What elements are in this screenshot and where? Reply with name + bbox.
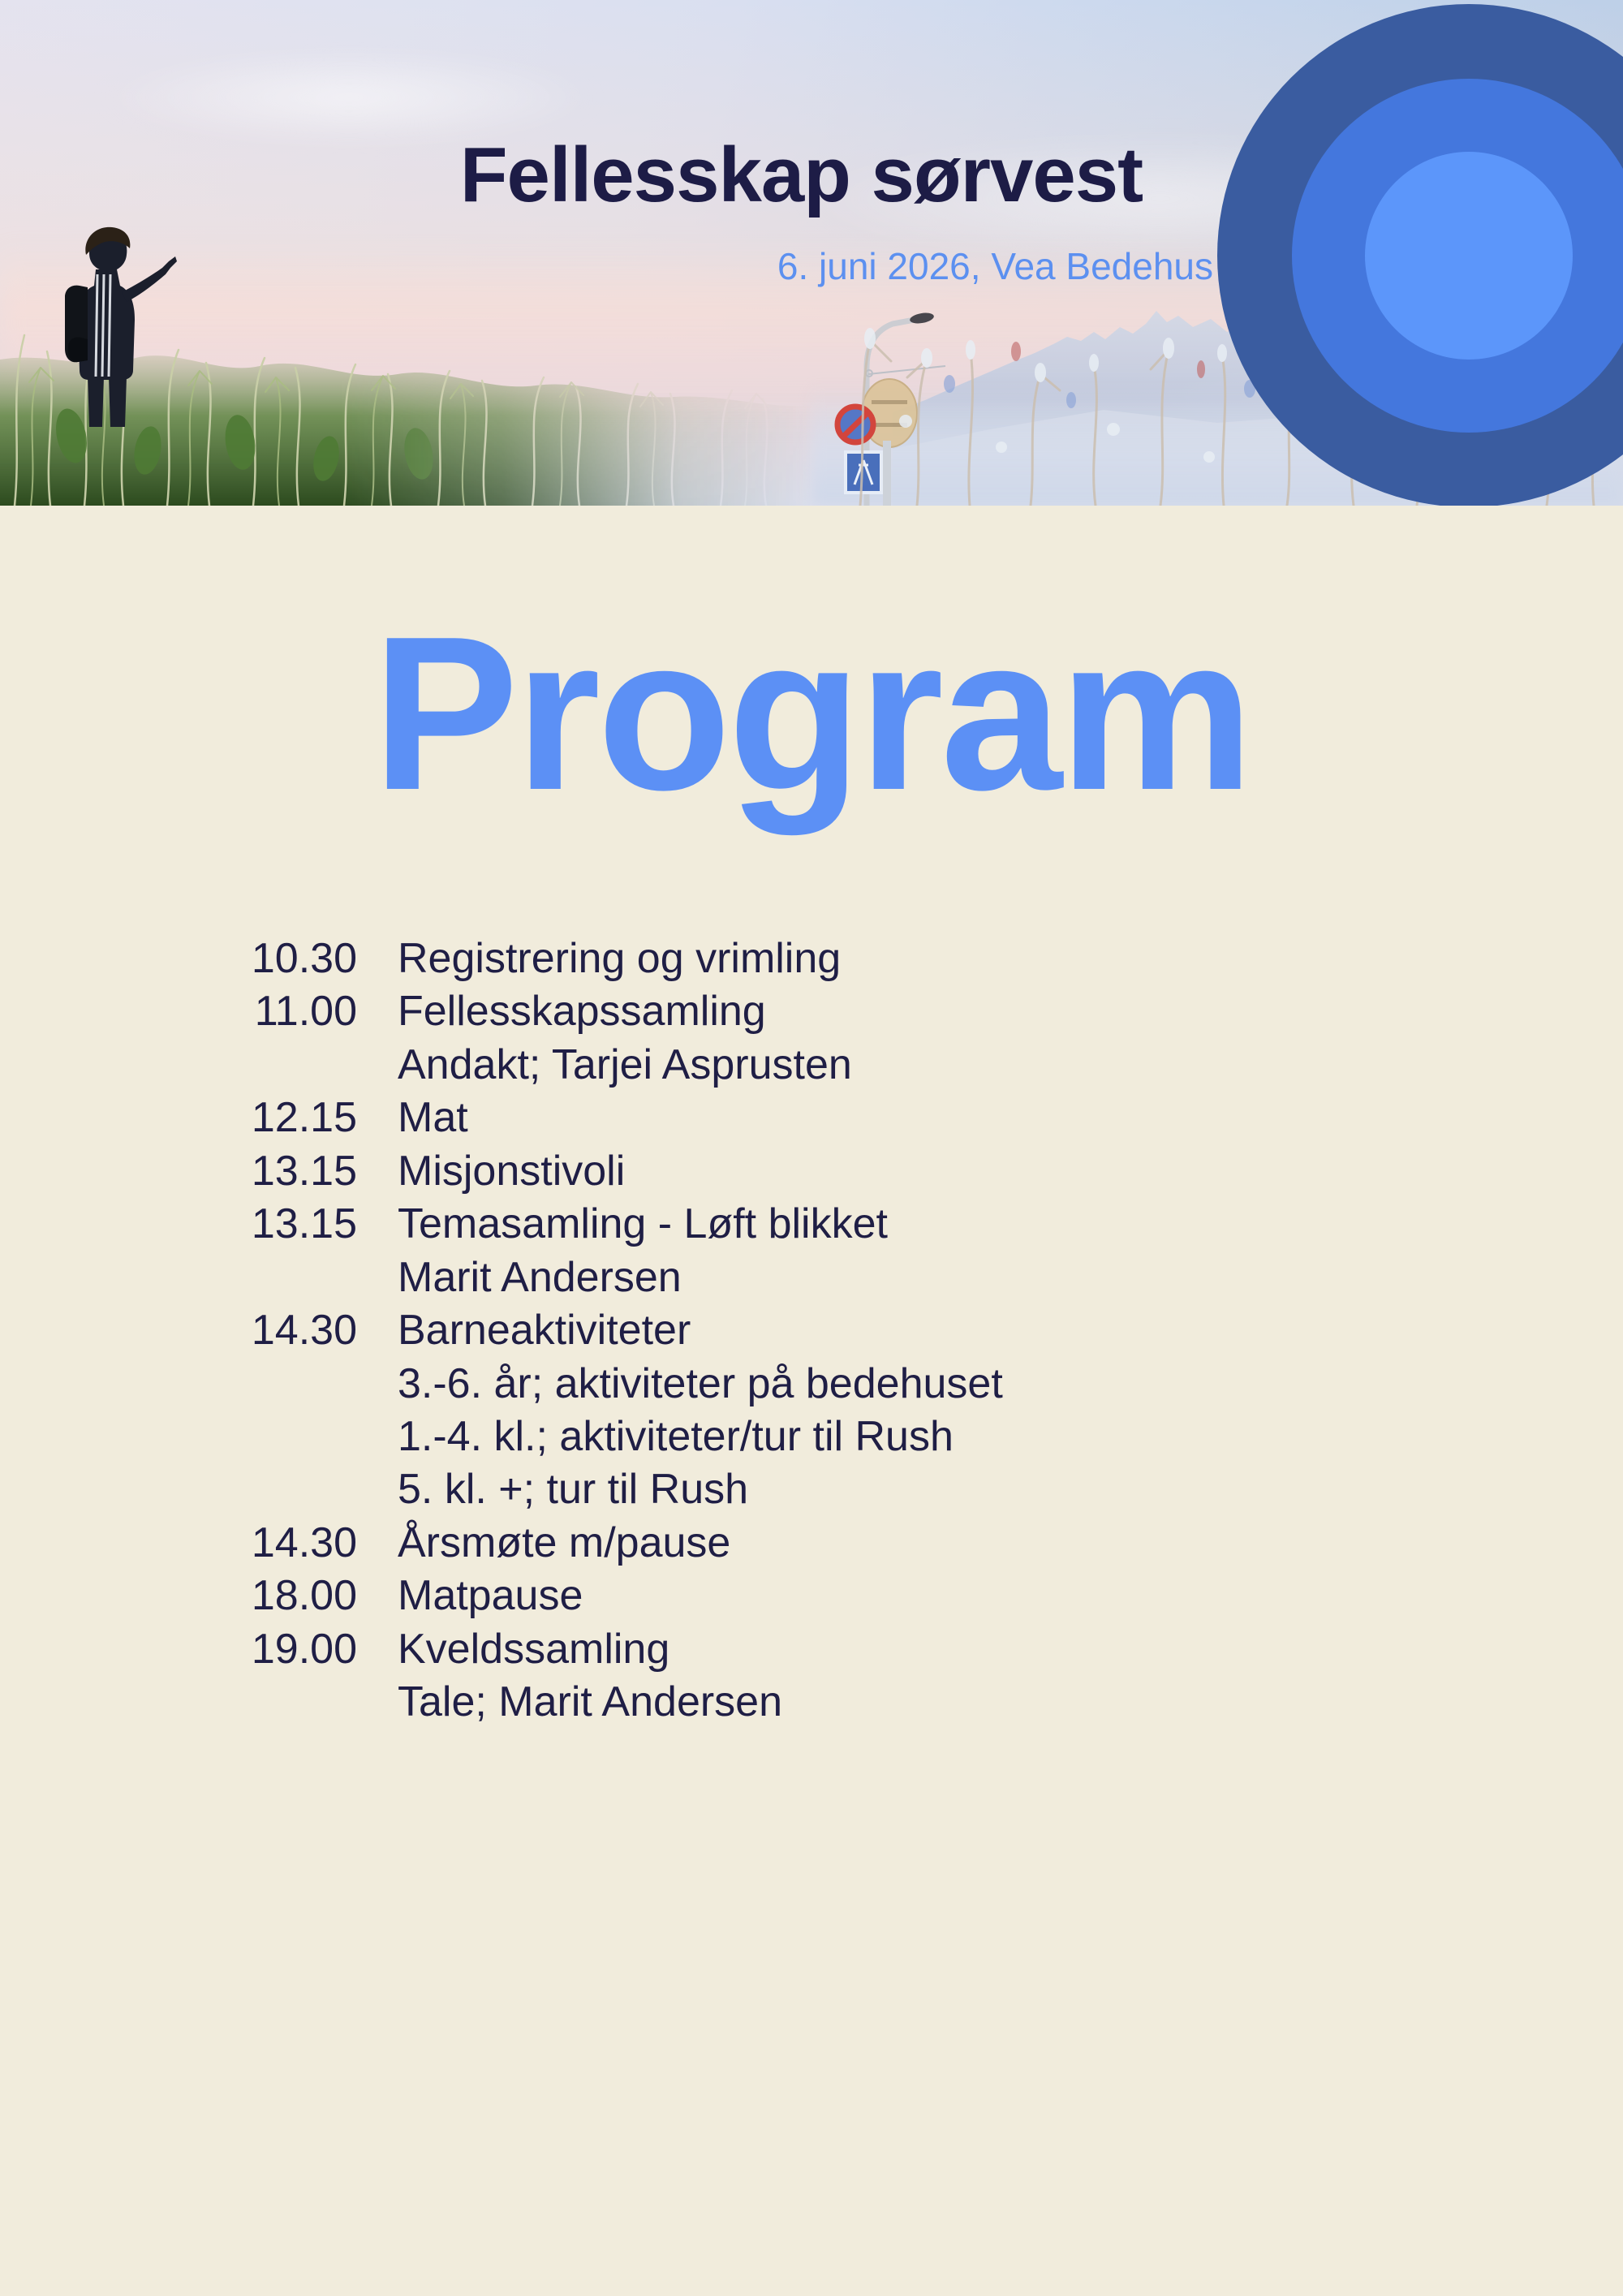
schedule-time: 10.30 [0,933,398,984]
schedule-row: 13.15Temasamling - Løft blikket [0,1199,1623,1250]
schedule-description: Mat [398,1092,1623,1144]
schedule-time: 12.15 [0,1092,398,1144]
schedule-time: 18.00 [0,1570,398,1622]
schedule-row: 19.00Kveldssamling [0,1624,1623,1675]
schedule-time: 11.00 [0,986,398,1037]
schedule-subrow: 3.-6. år; aktiviteter på bedehuset [0,1359,1623,1410]
schedule-description: Årsmøte m/pause [398,1518,1623,1569]
schedule-subrow: Marit Andersen [0,1252,1623,1303]
poster-subtitle: 6. juni 2026, Vea Bedehus [390,248,1213,285]
schedule-time: 13.15 [0,1199,398,1250]
schedule-row: 18.00Matpause [0,1570,1623,1622]
hero-banner: Fellesskap sørvest 6. juni 2026, Vea Bed… [0,0,1623,506]
schedule-subrow: 5. kl. +; tur til Rush [0,1464,1623,1515]
schedule-description: Registrering og vrimling [398,933,1623,984]
schedule-row: 14.30Årsmøte m/pause [0,1518,1623,1569]
poster-root: Fellesskap sørvest 6. juni 2026, Vea Bed… [0,0,1623,2296]
schedule-time: 13.15 [0,1146,398,1197]
program-heading: Program [0,605,1623,824]
schedule-time: 14.30 [0,1518,398,1569]
schedule-description: Marit Andersen [398,1252,1623,1303]
schedule-description: Barneaktiviteter [398,1305,1623,1356]
schedule-time: 14.30 [0,1305,398,1356]
schedule-description: 1.-4. kl.; aktiviteter/tur til Rush [398,1411,1623,1462]
schedule-subrow: 1.-4. kl.; aktiviteter/tur til Rush [0,1411,1623,1462]
schedule-description: Matpause [398,1570,1623,1622]
schedule-description: Misjonstivoli [398,1146,1623,1197]
schedule-row: 10.30Registrering og vrimling [0,933,1623,984]
schedule-list: 10.30Registrering og vrimling11.00Felles… [0,933,1623,1730]
poster-title: Fellesskap sørvest [390,136,1213,214]
schedule-description: Kveldssamling [398,1624,1623,1675]
schedule-description: 5. kl. +; tur til Rush [398,1464,1623,1515]
schedule-row: 12.15Mat [0,1092,1623,1144]
schedule-row: 14.30Barneaktiviteter [0,1305,1623,1356]
schedule-time: 19.00 [0,1624,398,1675]
schedule-subrow: Tale; Marit Andersen [0,1677,1623,1728]
schedule-description: 3.-6. år; aktiviteter på bedehuset [398,1359,1623,1410]
concentric-circles-logo [1217,4,1623,506]
schedule-row: 13.15Misjonstivoli [0,1146,1623,1197]
schedule-row: 11.00Fellesskapssamling [0,986,1623,1037]
person-pointing-icon [32,218,179,429]
schedule-description: Andakt; Tarjei Asprusten [398,1040,1623,1091]
schedule-description: Fellesskapssamling [398,986,1623,1037]
schedule-subrow: Andakt; Tarjei Asprusten [0,1040,1623,1091]
schedule-description: Tale; Marit Andersen [398,1677,1623,1728]
schedule-description: Temasamling - Løft blikket [398,1199,1623,1250]
